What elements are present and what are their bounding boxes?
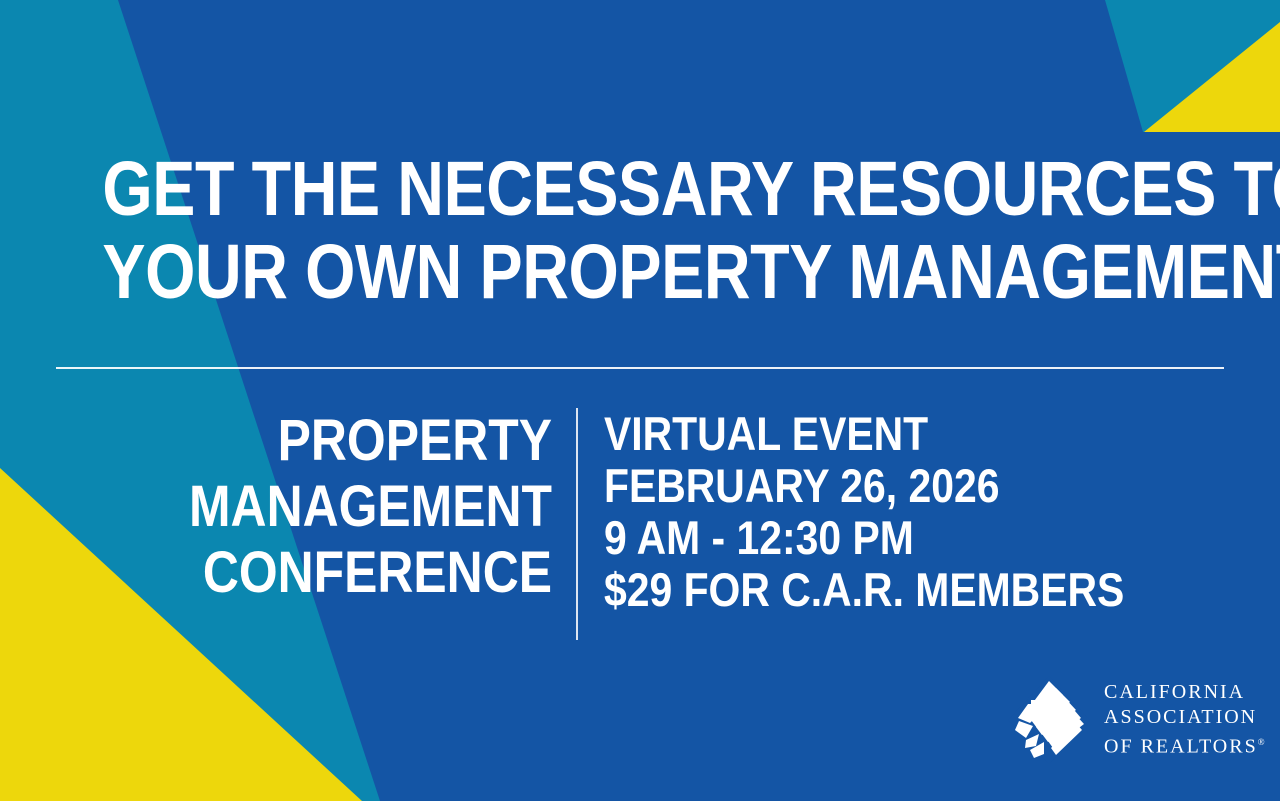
conference-title-line-3: CONFERENCE — [77, 540, 552, 606]
registered-trademark-icon: ® — [1258, 737, 1265, 747]
car-logo-wordmark: CALIFORNIA ASSOCIATION OF REALTORS® — [1104, 680, 1265, 760]
event-price: $29 FOR C.A.R. MEMBERS — [604, 564, 1192, 616]
headline: GET THE NECESSARY RESOURCES TO SUPPORT Y… — [0, 148, 1280, 314]
conference-title-block: PROPERTY MANAGEMENT CONFERENCE — [0, 408, 576, 606]
event-details-block: VIRTUAL EVENT FEBRUARY 26, 2026 9 AM - 1… — [578, 408, 1280, 616]
event-info-row: PROPERTY MANAGEMENT CONFERENCE VIRTUAL E… — [0, 408, 1280, 640]
event-time: 9 AM - 12:30 PM — [604, 512, 1192, 564]
horizontal-divider — [56, 367, 1224, 369]
conference-title-line-1: PROPERTY — [77, 408, 552, 474]
conference-title-line-2: MANAGEMENT — [77, 474, 552, 540]
logo-line-association: ASSOCIATION — [1104, 705, 1265, 730]
car-diamond-emblem-icon — [1006, 674, 1092, 766]
logo-line-of-realtors-text: OF REALTORS — [1104, 736, 1258, 758]
headline-line-1: GET THE NECESSARY RESOURCES TO SUPPORT — [102, 148, 1177, 231]
vertical-divider — [576, 408, 578, 640]
logo-line-california: CALIFORNIA — [1104, 680, 1265, 705]
event-date: FEBRUARY 26, 2026 — [604, 460, 1192, 512]
promo-banner: GET THE NECESSARY RESOURCES TO SUPPORT Y… — [0, 0, 1280, 801]
logo-line-of-realtors: OF REALTORS® — [1104, 730, 1265, 760]
event-format: VIRTUAL EVENT — [604, 408, 1192, 460]
car-logo: CALIFORNIA ASSOCIATION OF REALTORS® — [1006, 672, 1242, 768]
headline-line-2: YOUR OWN PROPERTY MANAGEMENT BUSINESS — [102, 231, 1177, 314]
